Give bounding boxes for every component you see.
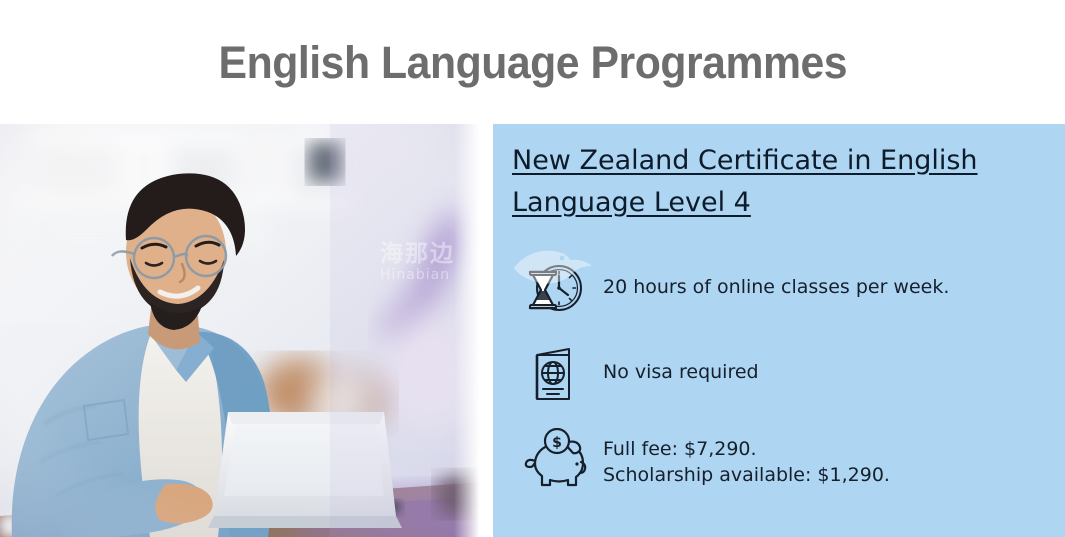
passport-globe-icon: [503, 345, 603, 405]
svg-text:$: $: [552, 435, 562, 451]
page-header: English Language Programmes: [0, 0, 1065, 124]
feature-row-fees: $ Full fee: $7,290. Scholarship availabl…: [503, 428, 1063, 494]
feature-text-fees: Full fee: $7,290. Scholarship available:…: [603, 428, 890, 488]
feature-text-visa: No visa required: [603, 345, 759, 385]
content-area: New Zealand Certificate in English Langu…: [0, 124, 1065, 537]
student-on-laptop-photo: [0, 124, 484, 537]
feature-row-hours: 20 hours of online classes per week.: [503, 260, 1063, 320]
programme-title: New Zealand Certificate in English Langu…: [512, 140, 1057, 224]
programme-info-panel: New Zealand Certificate in English Langu…: [493, 124, 1065, 537]
piggy-bank-dollar-icon: $: [503, 428, 603, 494]
feature-row-visa: No visa required: [503, 345, 1063, 405]
photo-panel-gap: [484, 124, 493, 537]
clock-hourglass-icon: [503, 260, 603, 320]
feature-text-hours: 20 hours of online classes per week.: [603, 260, 949, 300]
page-title: English Language Programmes: [218, 40, 847, 85]
